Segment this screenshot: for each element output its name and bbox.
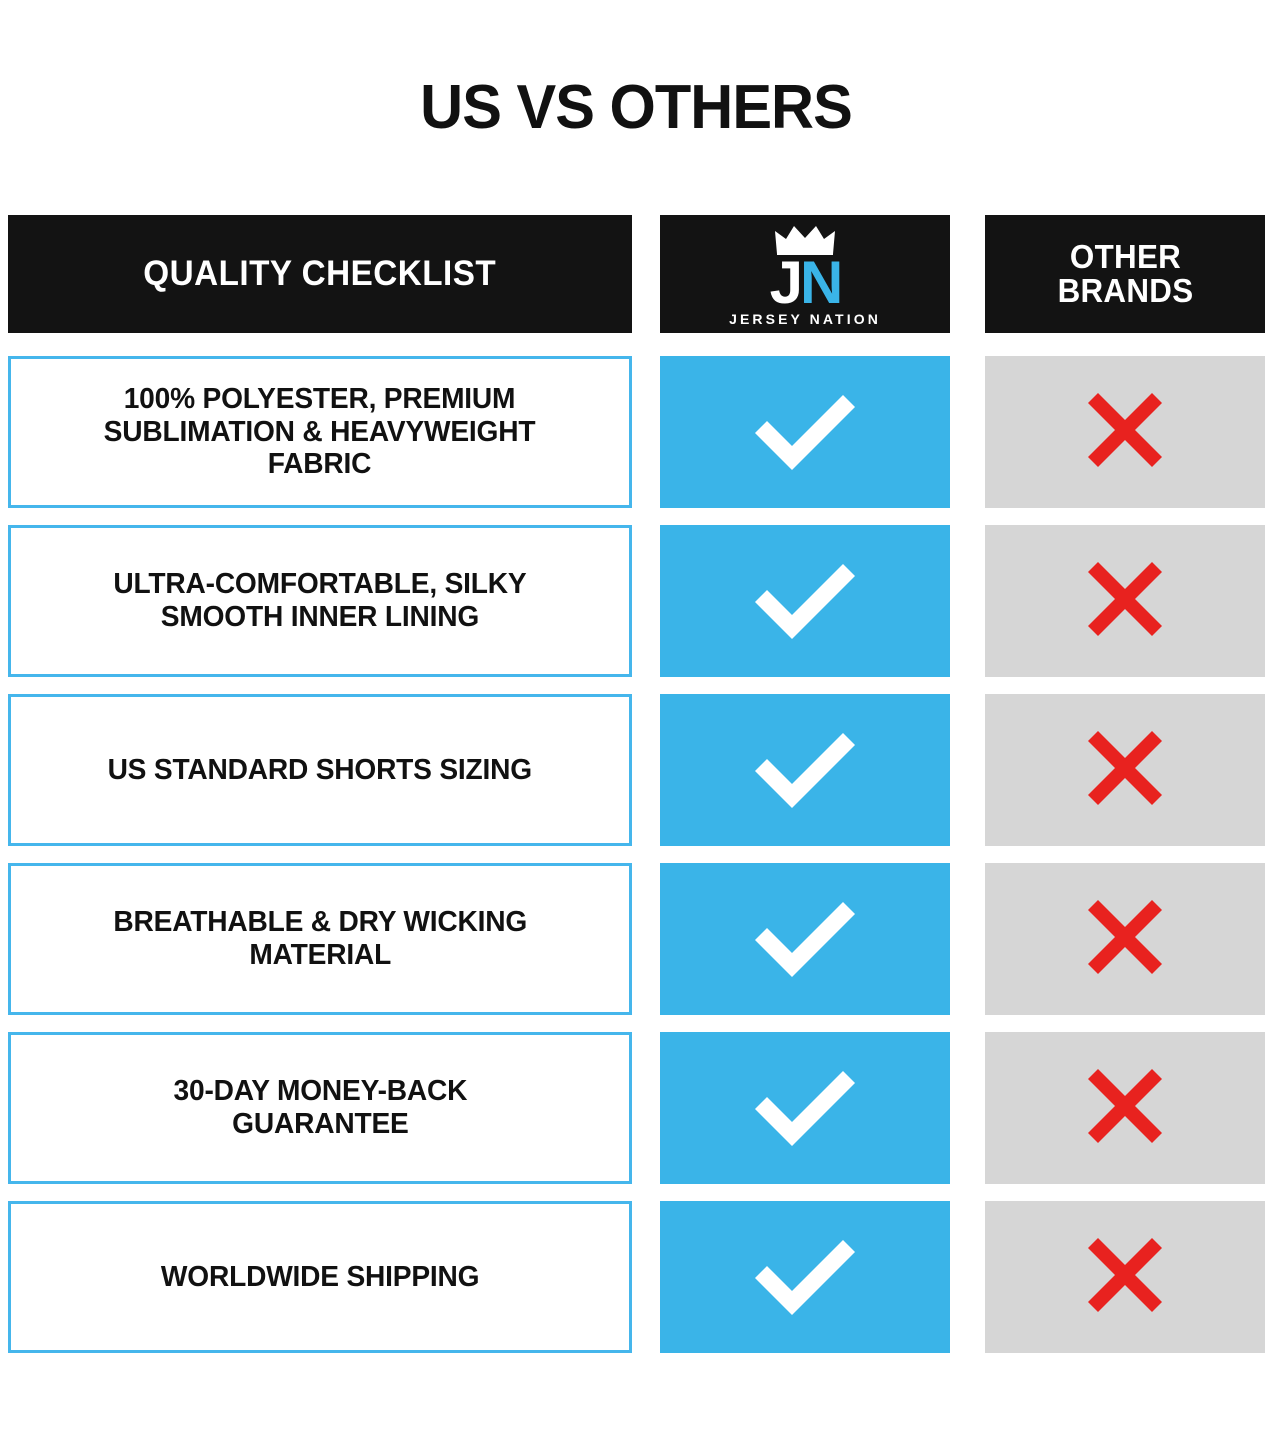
cross-icon: [1086, 560, 1164, 643]
table-row: ULTRA-COMFORTABLE, SILKY SMOOTH INNER LI…: [8, 525, 1265, 677]
check-icon: [747, 1062, 863, 1155]
column-gap: [632, 1201, 660, 1353]
feature-label-line: SMOOTH INNER LINING: [113, 601, 526, 634]
feature-label-line: BREATHABLE & DRY WICKING: [113, 906, 527, 939]
us-value-cell: [660, 1032, 950, 1184]
us-value-cell: [660, 525, 950, 677]
feature-label-line: GUARANTEE: [173, 1108, 467, 1141]
comparison-table: QUALITY CHECKLIST J N JERSEY NATIO: [8, 215, 1265, 1370]
feature-label: US STANDARD SHORTS SIZING: [108, 754, 532, 787]
column-gap: [950, 694, 985, 846]
column-gap: [950, 215, 985, 333]
logo-letter-j: J: [770, 258, 800, 307]
jersey-nation-monogram: J N: [770, 258, 841, 307]
comparison-infographic: US VS OTHERS QUALITY CHECKLIST J: [0, 0, 1272, 1431]
us-value-cell: [660, 863, 950, 1015]
table-row: WORLDWIDE SHIPPING: [8, 1201, 1265, 1353]
check-icon: [747, 893, 863, 986]
feature-cell: WORLDWIDE SHIPPING: [8, 1201, 632, 1353]
feature-cell: US STANDARD SHORTS SIZING: [8, 694, 632, 846]
us-value-cell: [660, 694, 950, 846]
feature-label-line: MATERIAL: [113, 939, 527, 972]
feature-label-line: FABRIC: [104, 448, 536, 481]
check-icon: [747, 1231, 863, 1324]
header-quality-checklist-label: QUALITY CHECKLIST: [144, 254, 497, 294]
header-other-brands-line1: OTHER: [1057, 240, 1193, 274]
header-other-brands-label: OTHER BRANDS: [1057, 240, 1193, 307]
feature-cell: BREATHABLE & DRY WICKING MATERIAL: [8, 863, 632, 1015]
feature-label-line: SUBLIMATION & HEAVYWEIGHT: [104, 416, 536, 449]
column-gap: [632, 1032, 660, 1184]
column-gap: [950, 1201, 985, 1353]
logo-subtitle: JERSEY NATION: [729, 311, 881, 327]
feature-label-line: 100% POLYESTER, PREMIUM: [104, 383, 536, 416]
feature-label-line: WORLDWIDE SHIPPING: [161, 1261, 479, 1294]
us-value-cell: [660, 1201, 950, 1353]
header-other-brands: OTHER BRANDS: [985, 215, 1265, 333]
check-icon: [747, 724, 863, 817]
column-gap: [950, 1032, 985, 1184]
feature-label-line: ULTRA-COMFORTABLE, SILKY: [113, 568, 526, 601]
page-title: US VS OTHERS: [25, 72, 1246, 143]
column-gap: [632, 525, 660, 677]
column-gap: [632, 694, 660, 846]
logo-letter-n: N: [800, 258, 840, 307]
other-value-cell: [985, 356, 1265, 508]
column-gap: [950, 863, 985, 1015]
feature-cell: ULTRA-COMFORTABLE, SILKY SMOOTH INNER LI…: [8, 525, 632, 677]
header-other-brands-line2: BRANDS: [1057, 274, 1193, 308]
other-value-cell: [985, 525, 1265, 677]
us-value-cell: [660, 356, 950, 508]
cross-icon: [1086, 391, 1164, 474]
jersey-nation-logo: J N JERSEY NATION: [729, 221, 881, 326]
feature-cell: 100% POLYESTER, PREMIUM SUBLIMATION & HE…: [8, 356, 632, 508]
feature-label: BREATHABLE & DRY WICKING MATERIAL: [113, 906, 527, 972]
header-us-brand: J N JERSEY NATION: [660, 215, 950, 333]
feature-label-line: 30-DAY MONEY-BACK: [173, 1075, 467, 1108]
cross-icon: [1086, 898, 1164, 981]
other-value-cell: [985, 694, 1265, 846]
feature-label: 30-DAY MONEY-BACK GUARANTEE: [173, 1075, 467, 1141]
column-gap: [632, 215, 660, 333]
table-row: 100% POLYESTER, PREMIUM SUBLIMATION & HE…: [8, 356, 1265, 508]
other-value-cell: [985, 1201, 1265, 1353]
feature-label: WORLDWIDE SHIPPING: [161, 1261, 479, 1294]
feature-label: ULTRA-COMFORTABLE, SILKY SMOOTH INNER LI…: [113, 568, 526, 634]
column-gap: [950, 525, 985, 677]
cross-icon: [1086, 1236, 1164, 1319]
other-value-cell: [985, 863, 1265, 1015]
feature-label-line: US STANDARD SHORTS SIZING: [108, 754, 532, 787]
other-value-cell: [985, 1032, 1265, 1184]
table-row: US STANDARD SHORTS SIZING: [8, 694, 1265, 846]
feature-label: 100% POLYESTER, PREMIUM SUBLIMATION & HE…: [104, 383, 536, 481]
header-quality-checklist: QUALITY CHECKLIST: [8, 215, 632, 333]
cross-icon: [1086, 1067, 1164, 1150]
table-header-row: QUALITY CHECKLIST J N JERSEY NATIO: [8, 215, 1265, 333]
column-gap: [632, 863, 660, 1015]
column-gap: [950, 356, 985, 508]
cross-icon: [1086, 729, 1164, 812]
check-icon: [747, 386, 863, 479]
table-row: 30-DAY MONEY-BACK GUARANTEE: [8, 1032, 1265, 1184]
column-gap: [632, 356, 660, 508]
table-row: BREATHABLE & DRY WICKING MATERIAL: [8, 863, 1265, 1015]
check-icon: [747, 555, 863, 648]
feature-cell: 30-DAY MONEY-BACK GUARANTEE: [8, 1032, 632, 1184]
